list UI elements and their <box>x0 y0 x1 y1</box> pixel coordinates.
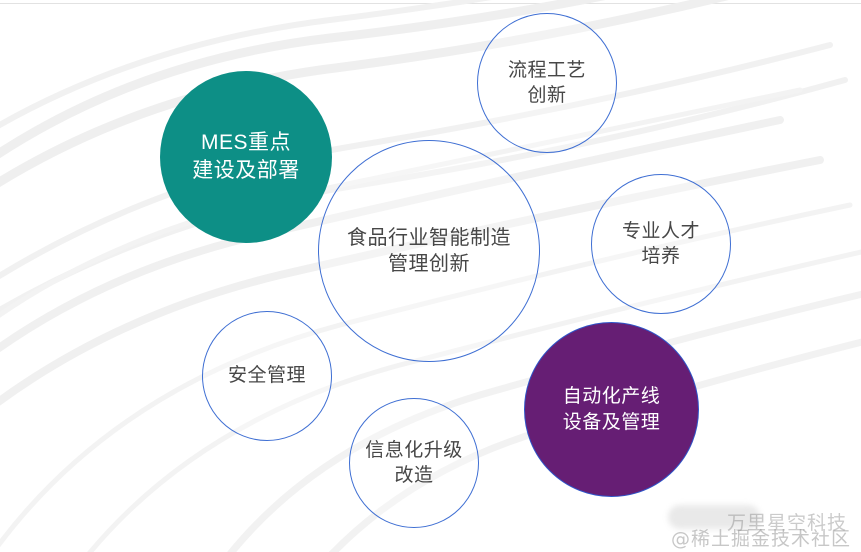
bubble-safety-management-label: 安全管理 <box>228 363 306 388</box>
top-divider-line <box>0 3 861 4</box>
bubble-talent-training-label: 专业人才 培养 <box>622 219 700 269</box>
bubble-talent-training[interactable]: 专业人才 培养 <box>591 174 731 314</box>
bubble-informatization-upgrade-label: 信息化升级 改造 <box>365 438 463 488</box>
bubble-mes-deployment[interactable]: MES重点 建设及部署 <box>160 71 332 243</box>
bubble-process-innovation[interactable]: 流程工艺 创新 <box>477 13 617 153</box>
bubble-mes-deployment-label: MES重点 建设及部署 <box>192 129 300 184</box>
bubble-automation-line[interactable]: 自动化产线 设备及管理 <box>524 322 699 497</box>
bubble-process-innovation-label: 流程工艺 创新 <box>508 58 586 108</box>
site-watermark: @稀土掘金技术社区 <box>671 524 851 551</box>
brand-watermark: 万里星空科技 <box>727 508 847 535</box>
slide-canvas: MES重点 建设及部署 食品行业智能制造 管理创新 流程工艺 创新 专业人才 培… <box>0 0 861 552</box>
bubble-automation-line-label: 自动化产线 设备及管理 <box>563 384 661 434</box>
bubble-informatization-upgrade[interactable]: 信息化升级 改造 <box>349 398 479 528</box>
watermark-smudge <box>668 505 760 529</box>
bubble-core-theme-label: 食品行业智能制造 管理创新 <box>347 225 511 278</box>
bubble-core-theme[interactable]: 食品行业智能制造 管理创新 <box>318 140 540 362</box>
bubble-safety-management[interactable]: 安全管理 <box>202 311 332 441</box>
